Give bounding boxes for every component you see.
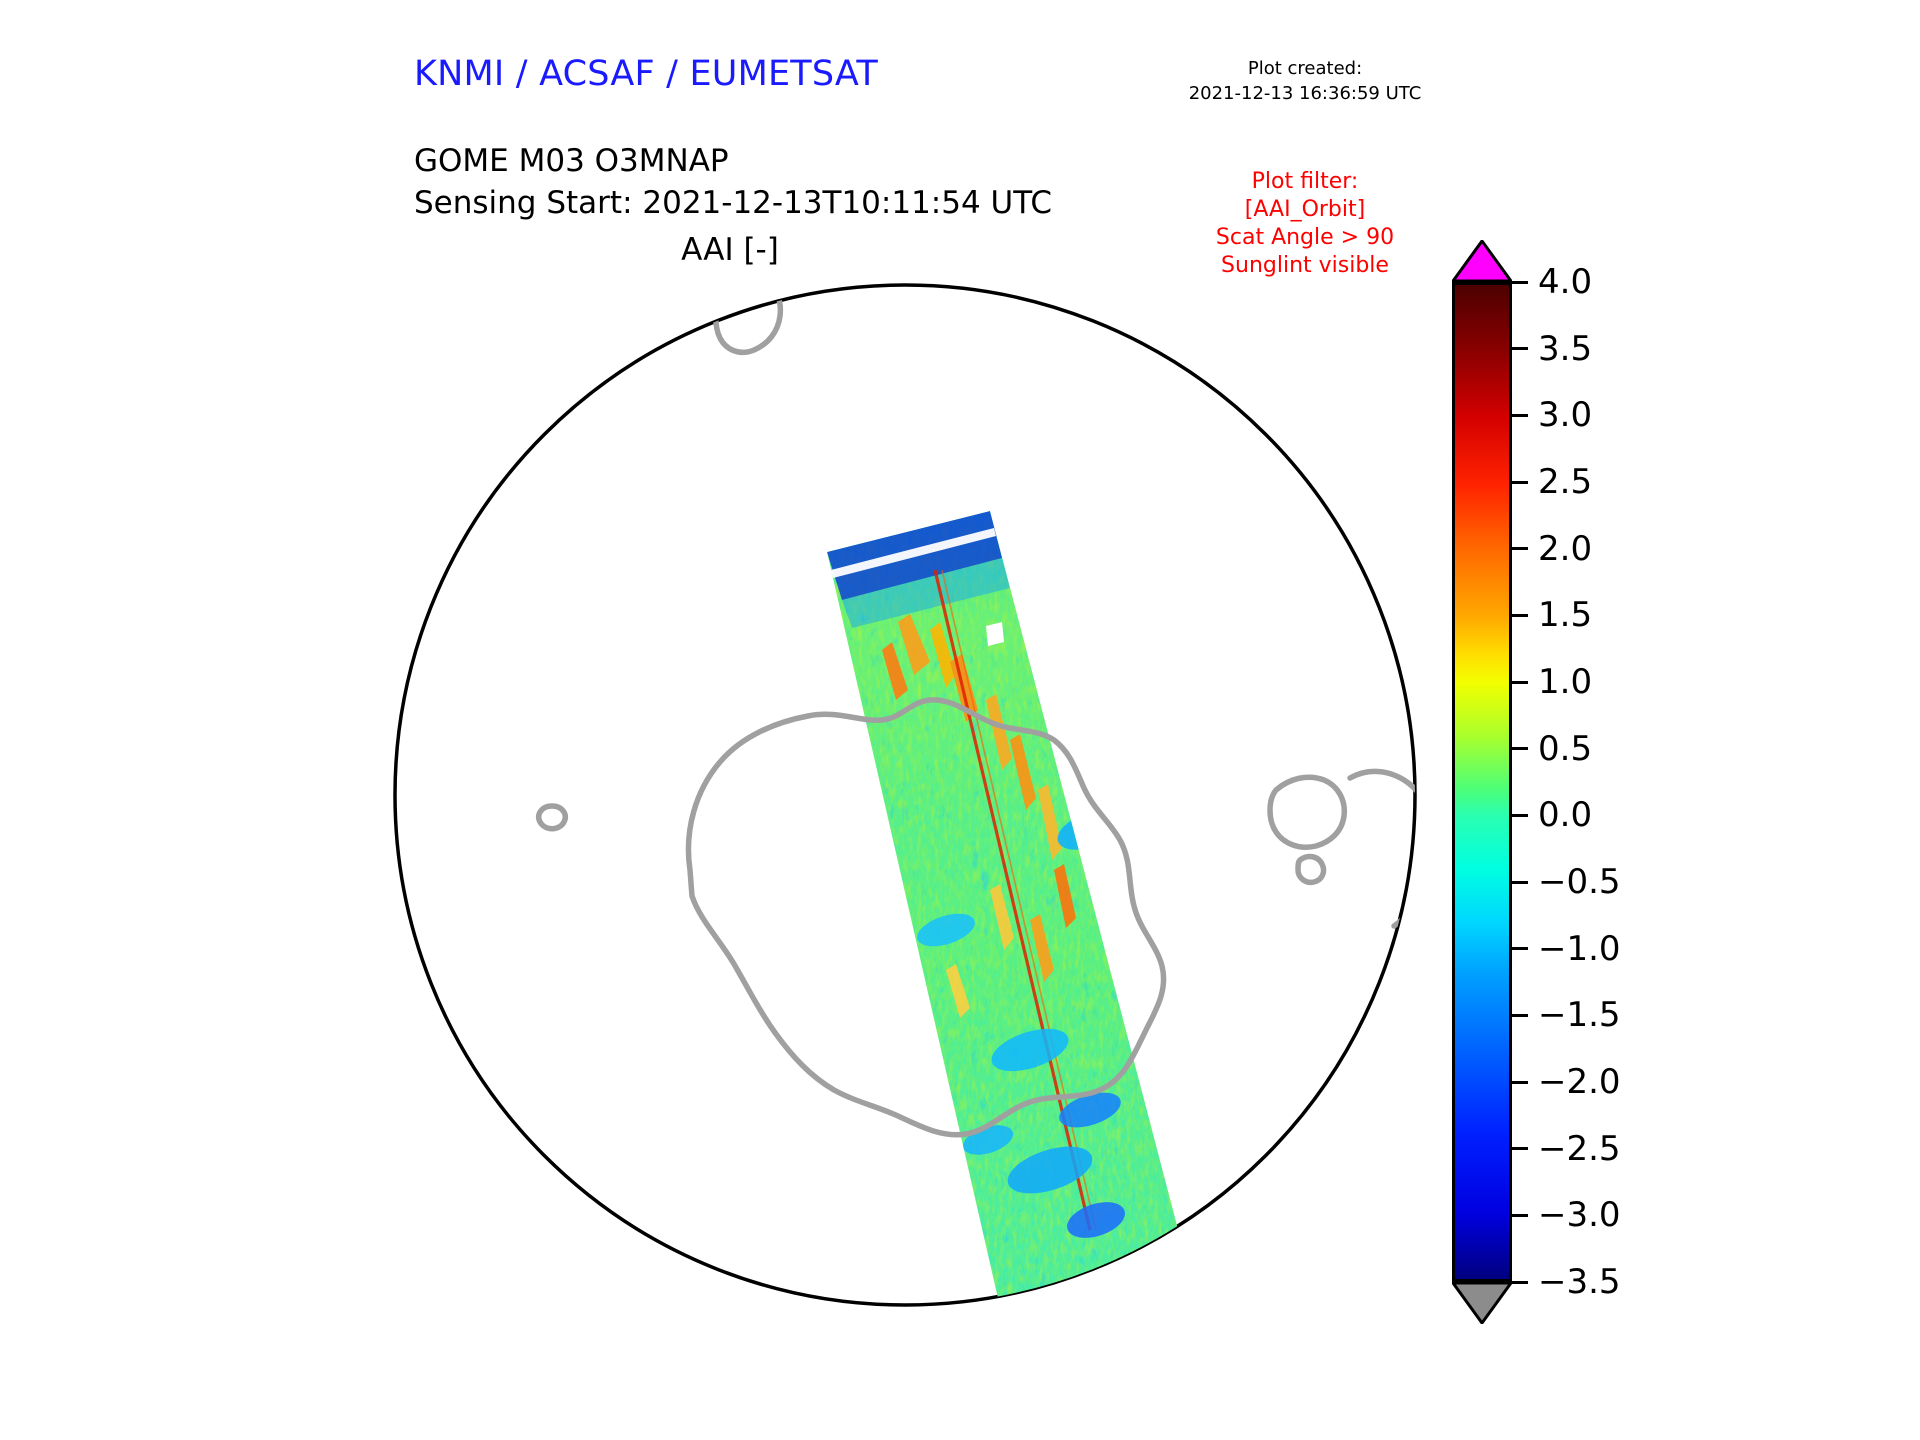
colorbar-tick-label: −3.5 xyxy=(1538,1262,1621,1302)
plot-filter-line-1: Scat Angle > 90 xyxy=(1150,224,1460,252)
colorbar-tick-label: 0.0 xyxy=(1538,795,1592,835)
colorbar-tick-label: 4.0 xyxy=(1538,262,1592,302)
colorbar-tick xyxy=(1512,681,1528,684)
colorbar-tick-label: −1.0 xyxy=(1538,929,1621,969)
colorbar-tick xyxy=(1512,547,1528,550)
colorbar-tick xyxy=(1512,1081,1528,1084)
colorbar-tick xyxy=(1512,281,1528,284)
colorbar-tick xyxy=(1512,614,1528,617)
map-plot-area xyxy=(390,270,1420,1320)
colorbar-tick-label: −1.5 xyxy=(1538,995,1621,1035)
colorbar-tick xyxy=(1512,414,1528,417)
colorbar-under-range-arrow xyxy=(1452,1282,1512,1324)
colorbar-tick xyxy=(1512,347,1528,350)
colorbar-tick xyxy=(1512,1147,1528,1150)
plot-title-block: GOME M03 O3MNAP Sensing Start: 2021-12-1… xyxy=(414,140,1052,224)
colorbar-tick-label: −2.5 xyxy=(1538,1129,1621,1169)
parameter-title: AAI [-] xyxy=(520,232,940,268)
plot-created-label: Plot created: xyxy=(1155,56,1455,81)
colorbar-tick xyxy=(1512,481,1528,484)
colorbar-tick xyxy=(1512,814,1528,817)
instrument-line: GOME M03 O3MNAP xyxy=(414,140,1052,182)
colorbar-tick-label: 1.5 xyxy=(1538,595,1592,635)
plot-created-block: Plot created: 2021-12-13 16:36:59 UTC xyxy=(1155,56,1455,106)
colorbar-tick-label: 0.5 xyxy=(1538,729,1592,769)
plot-filter-line-0: [AAI_Orbit] xyxy=(1150,196,1460,224)
colorbar-over-range-arrow xyxy=(1452,240,1512,282)
colorbar-tick-label: −0.5 xyxy=(1538,862,1621,902)
colorbar-tick-label: −3.0 xyxy=(1538,1195,1621,1235)
colorbar: 4.03.53.02.52.01.51.00.50.0−0.5−1.0−1.5−… xyxy=(1452,282,1512,1282)
sensing-start-line: Sensing Start: 2021-12-13T10:11:54 UTC xyxy=(414,182,1052,224)
colorbar-tick xyxy=(1512,1214,1528,1217)
colorbar-tick-label: 3.5 xyxy=(1538,329,1592,369)
colorbar-tick xyxy=(1512,881,1528,884)
colorbar-tick xyxy=(1512,947,1528,950)
colorbar-tick xyxy=(1512,1014,1528,1017)
colorbar-tick xyxy=(1512,747,1528,750)
plot-filter-block: Plot filter: [AAI_Orbit] Scat Angle > 90… xyxy=(1150,168,1460,280)
colorbar-tick-label: −2.0 xyxy=(1538,1062,1621,1102)
colorbar-tick xyxy=(1512,1281,1528,1284)
organisation-title: KNMI / ACSAF / EUMETSAT xyxy=(414,54,878,94)
plot-filter-title: Plot filter: xyxy=(1150,168,1460,196)
colorbar-tick-label: 1.0 xyxy=(1538,662,1592,702)
colorbar-body xyxy=(1452,282,1512,1282)
plot-created-timestamp: 2021-12-13 16:36:59 UTC xyxy=(1155,81,1455,106)
colorbar-tick-label: 2.5 xyxy=(1538,462,1592,502)
colorbar-tick-label: 3.0 xyxy=(1538,395,1592,435)
colorbar-tick-label: 2.0 xyxy=(1538,529,1592,569)
